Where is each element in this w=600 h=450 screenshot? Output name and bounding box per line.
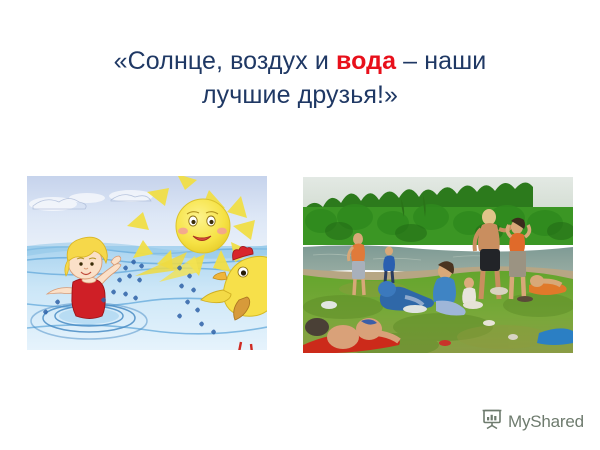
myshared-watermark: MyShared <box>481 408 584 435</box>
photo-river-beach-people <box>303 177 573 353</box>
presentation-chart-icon <box>481 408 503 435</box>
title-highlight-voda: вода <box>336 47 396 75</box>
watermark-label: MyShared <box>508 412 584 432</box>
title-text-after: – наши <box>396 47 486 75</box>
title-line-1: «Солнце, воздух и вода – наши <box>114 47 487 75</box>
illustration-canvas <box>27 176 267 350</box>
title-text-before: «Солнце, воздух и <box>114 47 336 75</box>
sun-disc <box>176 199 230 253</box>
title-line-2: лучшие друзья!» <box>202 81 398 109</box>
child-red-shirt <box>72 278 105 318</box>
page-title: «Солнце, воздух и вода – наши лучшие дру… <box>0 44 600 112</box>
watercolor-illustration-child-swimming <box>27 176 267 350</box>
photo-canvas <box>303 177 573 353</box>
